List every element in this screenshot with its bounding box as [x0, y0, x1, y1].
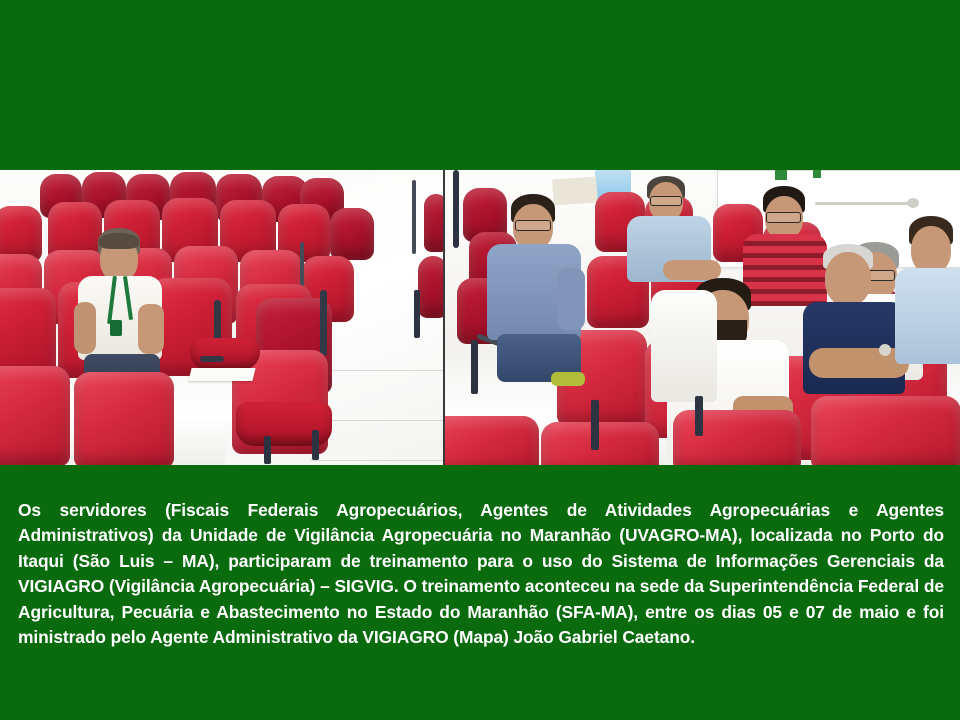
eyeglasses-icon — [515, 220, 551, 231]
chair — [74, 372, 174, 465]
chair — [443, 416, 539, 465]
caption-paragraph: Os servidores (Fiscais Federais Agropecu… — [18, 498, 944, 650]
person-arm-left — [74, 302, 96, 354]
person-torso-shirt — [651, 290, 717, 402]
paper-on-armrest — [188, 368, 255, 381]
wall-green-marker — [813, 170, 821, 178]
person-torso-shirt — [895, 268, 960, 364]
wristwatch-icon — [879, 344, 891, 356]
person-arm — [557, 268, 585, 330]
aisle-tile-line — [330, 370, 443, 371]
person-shoe — [551, 372, 585, 386]
chair-leg — [312, 430, 319, 460]
person-blue-shirt-glasses — [491, 194, 611, 384]
chair — [418, 256, 443, 318]
wall-pointer-knob — [907, 198, 919, 208]
eyeglasses-icon — [766, 212, 801, 223]
person-badge — [110, 320, 122, 336]
chair-leg — [695, 396, 703, 436]
person-arm-right — [138, 304, 164, 354]
photo-strip — [0, 170, 960, 465]
chair — [0, 366, 70, 465]
chair-leg — [414, 290, 420, 338]
chair-leg — [264, 436, 271, 464]
chair — [330, 208, 374, 260]
chair-arm-post — [320, 290, 327, 356]
chair-leg — [591, 400, 599, 450]
auditorium-left-photo — [0, 170, 443, 465]
aisle-tile-line — [320, 420, 443, 421]
chair-rail — [412, 180, 416, 254]
chair-arm-post — [200, 356, 224, 362]
wall-vertical-rail — [453, 170, 459, 248]
person-head — [825, 252, 871, 306]
wall-green-marker — [775, 170, 787, 180]
person-hair-front — [99, 233, 139, 249]
aisle-tile-line — [310, 460, 443, 461]
person-head — [911, 226, 951, 274]
chair — [424, 194, 443, 252]
person-light-blue-shirt-right — [895, 216, 960, 366]
chair — [541, 422, 659, 465]
person-arms-crossed — [809, 348, 909, 378]
chair-seat — [190, 338, 260, 370]
person-partially-hidden-white-shirt — [651, 290, 721, 410]
chair — [673, 410, 801, 465]
chair — [811, 396, 960, 465]
presentation-slide: Os servidores (Fiscais Federais Agropecu… — [0, 0, 960, 720]
eyeglasses-icon — [650, 196, 682, 206]
person-arm-crossed — [663, 260, 721, 280]
auditorium-right-photo — [443, 170, 960, 465]
chair-leg — [471, 340, 478, 394]
slide-caption: Os servidores (Fiscais Federais Agropecu… — [18, 498, 944, 650]
